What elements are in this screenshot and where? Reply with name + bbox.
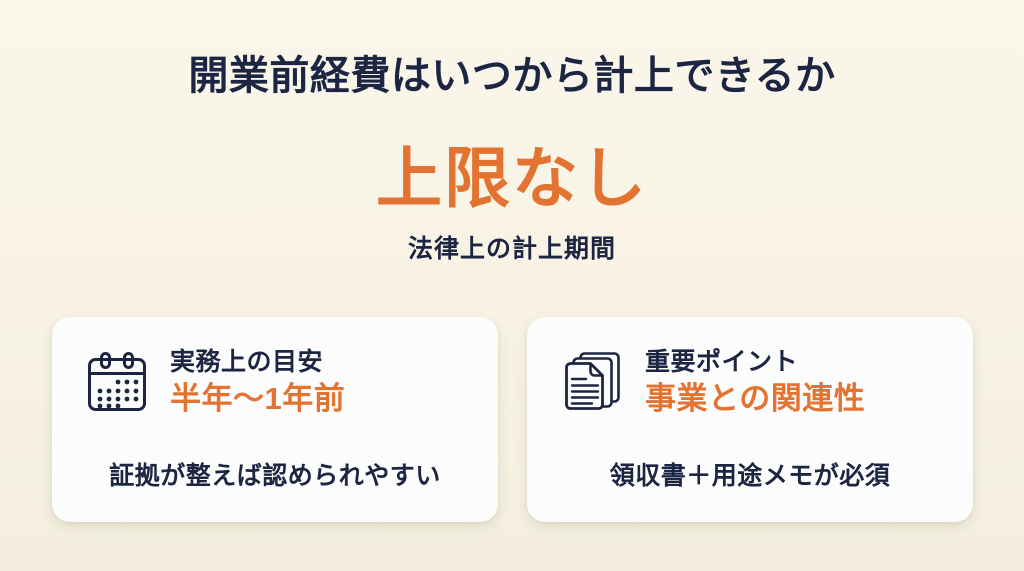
card-group: 実務上の目安 半年〜1年前 証拠が整えば認められやすい: [52, 317, 973, 522]
card-text-column: 重要ポイント 事業との関連性: [645, 347, 865, 417]
card-label: 実務上の目安: [170, 347, 345, 378]
info-card-key-point: 重要ポイント 事業との関連性 領収書＋用途メモが必須: [527, 317, 973, 522]
card-note: 証拠が整えば認められやすい: [52, 461, 498, 492]
hero-subtitle: 法律上の計上期間: [0, 233, 1024, 266]
page-title: 開業前経費はいつから計上できるか: [0, 52, 1024, 100]
card-header: 実務上の目安 半年〜1年前: [52, 317, 498, 425]
card-note: 領収書＋用途メモが必須: [527, 461, 973, 492]
card-label: 重要ポイント: [645, 347, 865, 378]
info-card-practical-guideline: 実務上の目安 半年〜1年前 証拠が整えば認められやすい: [52, 317, 498, 522]
card-value: 半年〜1年前: [170, 380, 345, 417]
card-value: 事業との関連性: [645, 380, 865, 417]
slide-canvas: 開業前経費はいつから計上できるか 上限なし 法律上の計上期間: [0, 0, 1024, 571]
card-header: 重要ポイント 事業との関連性: [527, 317, 973, 425]
hero-headline: 上限なし: [0, 142, 1024, 216]
documents-icon: [555, 345, 629, 419]
card-text-column: 実務上の目安 半年〜1年前: [170, 347, 345, 417]
calendar-icon: [80, 345, 154, 419]
